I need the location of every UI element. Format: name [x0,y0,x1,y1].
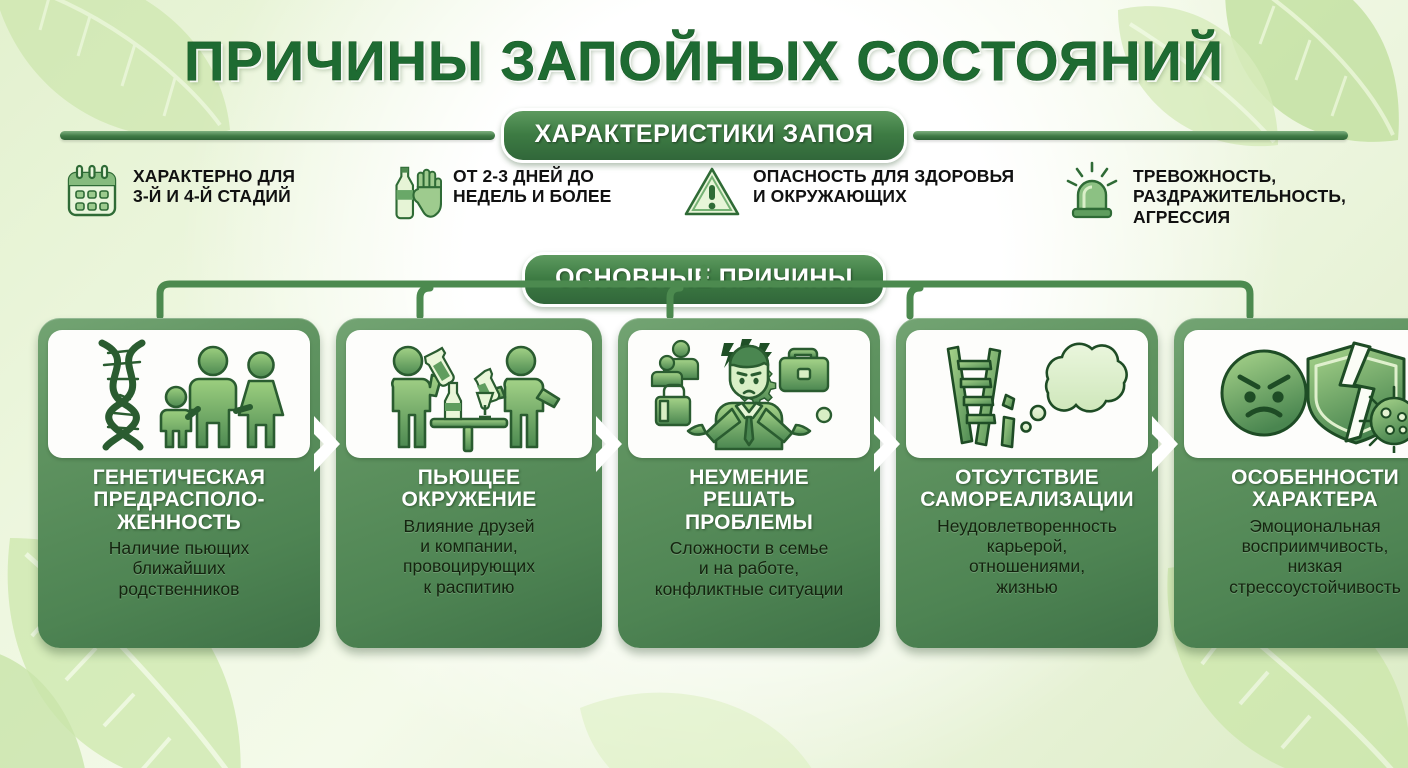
cause-title-line-3: ПРОБЛЕМЫ [685,512,813,534]
drinking-company-icon [346,330,592,458]
cause-desc-line-3: низкая [1229,556,1401,576]
characteristic-line-1: ОПАСНОСТЬ ДЛЯ ЗДОРОВЬЯ [753,166,1014,186]
characteristic-line-3: АГРЕССИЯ [1133,207,1346,227]
cause-card-self-realization[interactable]: ОТСУТСТВИЕ САМОРЕАЛИЗАЦИИ Неудовлетворен… [896,318,1158,648]
cause-desc-line-1: Наличие пьющих [109,538,250,558]
cause-title-line-2: ОКРУЖЕНИЕ [402,489,537,511]
arrow-to-next-card-icon [592,414,626,474]
cause-title-line-1: ГЕНЕТИЧЕСКАЯ [93,467,265,489]
cause-desc-line-3: родственников [109,579,250,599]
characteristic-line-2: 3-Й И 4-Й СТАДИЙ [133,186,295,206]
cause-desc-line-1: Влияние друзей [403,516,535,536]
characteristic-text: ОТ 2-3 ДНЕЙ ДО НЕДЕЛЬ И БОЛЕЕ [453,160,611,207]
cause-title-line-2: РЕШАТЬ [685,489,813,511]
page-title: ПРИЧИНЫ ЗАПОЙНЫХ СОСТОЯНИЙ [0,28,1408,93]
cause-title-line-1: ОТСУТСТВИЕ [920,467,1134,489]
characteristic-line-2: РАЗДРАЖИТЕЛЬНОСТЬ, [1133,186,1346,206]
cause-desc-line-3: отношениями, [937,556,1117,576]
causes-banner: ОСНОВНЫЕ ПРИЧИНЫ [522,252,886,307]
cause-desc-line-4: к распитию [403,577,535,597]
causes-banner-row: ОСНОВНЫЕ ПРИЧИНЫ [60,252,1348,307]
calendar-icon [62,160,122,224]
stressed-man-icon [628,330,870,458]
arrow-to-next-card-icon [310,414,344,474]
cause-desc-line-3: конфликтные ситуации [655,579,844,599]
cause-title-line-2: ХАРАКТЕРА [1231,489,1399,511]
arrow-to-next-card-icon [1148,414,1182,474]
broken-ladder-thought-icon [906,330,1148,458]
characteristics-banner-row: ХАРАКТЕРИСТИКИ ЗАПОЯ [60,108,1348,163]
cause-card-title: НЕУМЕНИЕ РЕШАТЬ ПРОБЛЕМЫ [685,467,813,534]
cause-card-desc: Эмоциональная восприимчивость, низкая ст… [1229,516,1401,598]
characteristic-text: ТРЕВОЖНОСТЬ, РАЗДРАЖИТЕЛЬНОСТЬ, АГРЕССИЯ [1133,160,1346,227]
causes-cards-row: ГЕНЕТИЧЕСКАЯ ПРЕДРАСПОЛО- ЖЕННОСТЬ Налич… [38,318,1378,648]
characteristics-list: ХАРАКТЕРНО ДЛЯ 3-Й И 4-Й СТАДИЙ [62,160,1368,227]
leaf-decoration-bottom-center [560,648,840,768]
cause-title-line-3: ЖЕННОСТЬ [93,512,265,534]
cause-card-title: ОСОБЕННОСТИ ХАРАКТЕРА [1231,467,1399,512]
characteristic-item-duration: ОТ 2-3 ДНЕЙ ДО НЕДЕЛЬ И БОЛЕЕ [382,160,682,224]
cause-desc-line-2: и компании, [403,536,535,556]
cause-desc-line-1: Эмоциональная [1229,516,1401,536]
cause-card-desc: Наличие пьющих ближайших родственников [109,538,250,599]
cause-card-desc: Неудовлетворенность карьерой, отношениям… [937,516,1117,598]
cause-title-line-1: НЕУМЕНИЕ [685,467,813,489]
characteristic-text: ХАРАКТЕРНО ДЛЯ 3-Й И 4-Й СТАДИЙ [133,160,295,207]
arrow-to-next-card-icon [870,414,904,474]
characteristic-item-aggression: ТРЕВОЖНОСТЬ, РАЗДРАЖИТЕЛЬНОСТЬ, АГРЕССИЯ [1062,160,1362,227]
cause-card-title: ОТСУТСТВИЕ САМОРЕАЛИЗАЦИИ [920,467,1134,512]
cause-desc-line-4: стрессоустойчивость [1229,577,1401,597]
characteristic-line-1: ХАРАКТЕРНО ДЛЯ [133,166,295,186]
cause-card-desc: Влияние друзей и компании, провоцирующих… [403,516,535,598]
cause-desc-line-3: провоцирующих [403,556,535,576]
characteristic-line-2: И ОКРУЖАЮЩИХ [753,186,1014,206]
cause-desc-line-2: и на работе, [655,558,844,578]
characteristic-item-danger: ОПАСНОСТЬ ДЛЯ ЗДОРОВЬЯ И ОКРУЖАЮЩИХ [682,160,1062,224]
cause-card-title: ГЕНЕТИЧЕСКАЯ ПРЕДРАСПОЛО- ЖЕННОСТЬ [93,467,265,534]
cause-desc-line-2: восприимчивость, [1229,536,1401,556]
cause-title-line-1: ОСОБЕННОСТИ [1231,467,1399,489]
cause-title-line-2: ПРЕДРАСПОЛО- [93,489,265,511]
cause-card-title: ПЬЮЩЕЕ ОКРУЖЕНИЕ [402,467,537,512]
cause-desc-line-2: карьерой, [937,536,1117,556]
cause-title-line-2: САМОРЕАЛИЗАЦИИ [920,489,1134,511]
cause-title-line-1: ПЬЮЩЕЕ [402,467,537,489]
characteristic-line-2: НЕДЕЛЬ И БОЛЕЕ [453,186,611,206]
warning-triangle-icon [682,160,742,224]
banner-rail-right [913,131,1348,140]
cause-desc-line-1: Неудовлетворенность [937,516,1117,536]
cause-card-character[interactable]: ОСОБЕННОСТИ ХАРАКТЕРА Эмоциональная восп… [1174,318,1408,648]
characteristic-line-1: ТРЕВОЖНОСТЬ, [1133,166,1346,186]
cause-card-genetic[interactable]: ГЕНЕТИЧЕСКАЯ ПРЕДРАСПОЛО- ЖЕННОСТЬ Налич… [38,318,320,648]
cause-card-environment[interactable]: ПЬЮЩЕЕ ОКРУЖЕНИЕ Влияние друзей и компан… [336,318,602,648]
banner-rail-left [60,131,495,140]
characteristic-text: ОПАСНОСТЬ ДЛЯ ЗДОРОВЬЯ И ОКРУЖАЮЩИХ [753,160,1014,207]
infographic-poster: ПРИЧИНЫ ЗАПОЙНЫХ СОСТОЯНИЙ ХАРАКТЕРИСТИК… [0,0,1408,768]
cause-card-problem-solving[interactable]: НЕУМЕНИЕ РЕШАТЬ ПРОБЛЕМЫ Сложности в сем… [618,318,880,648]
alarm-siren-icon [1062,160,1122,224]
cause-card-desc: Сложности в семье и на работе, конфликтн… [655,538,844,599]
characteristic-item-stages: ХАРАКТЕРНО ДЛЯ 3-Й И 4-Й СТАДИЙ [62,160,382,224]
cause-desc-line-4: жизнью [937,577,1117,597]
cause-desc-line-2: ближайших [109,558,250,578]
cause-desc-line-1: Сложности в семье [655,538,844,558]
bottle-hand-icon [382,160,442,224]
characteristic-line-1: ОТ 2-3 ДНЕЙ ДО [453,166,611,186]
dna-family-icon [48,330,310,458]
angry-face-broken-shield-icon [1184,330,1408,458]
characteristics-banner: ХАРАКТЕРИСТИКИ ЗАПОЯ [501,108,906,163]
